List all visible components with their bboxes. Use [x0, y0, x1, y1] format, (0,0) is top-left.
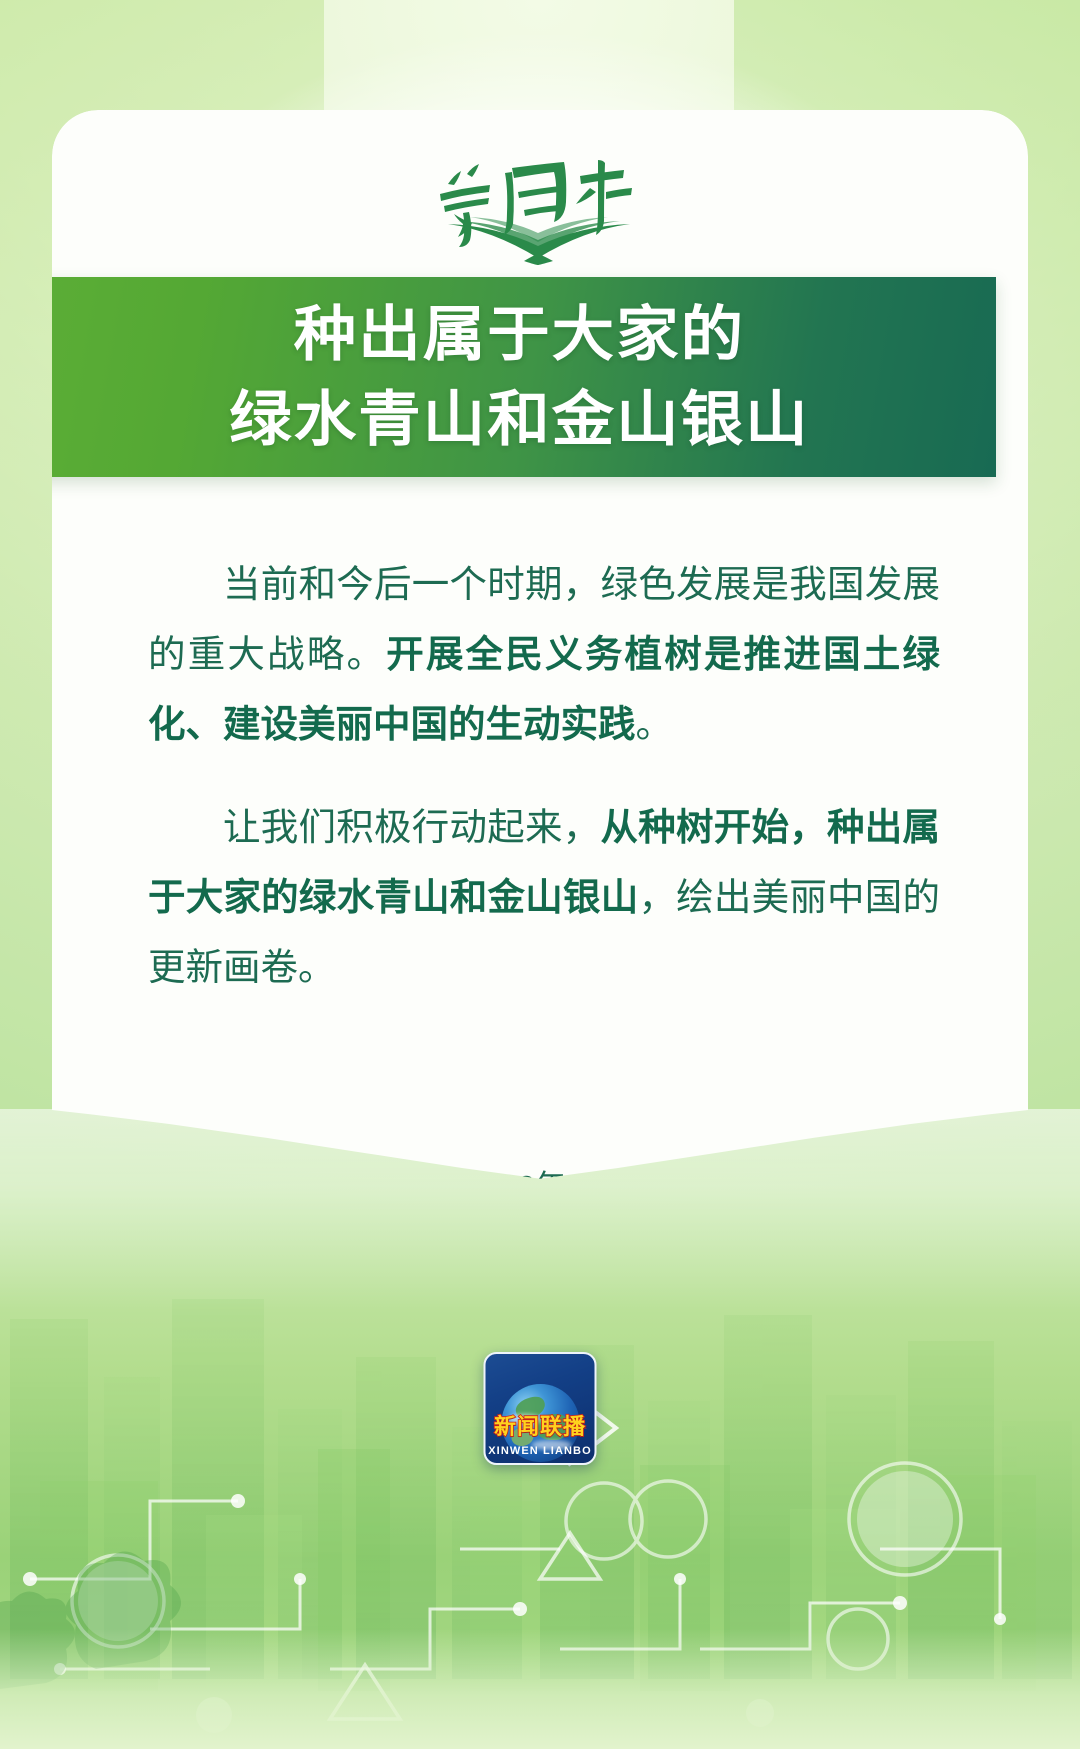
content-card: 学习卡 种出属于大家的 绿水青山和金山银山 当前和今后一个时期，绿色发展是我国发…	[52, 110, 1028, 1183]
paragraph-1: 当前和今后一个时期，绿色发展是我国发展的重大战略。开展全民义务植树是推进国土绿化…	[148, 550, 940, 759]
card-inner: 学习卡 种出属于大家的 绿水青山和金山银山 当前和今后一个时期，绿色发展是我国发…	[52, 110, 1028, 1183]
background-bottom-fade	[0, 1629, 1080, 1749]
body-copy: 当前和今后一个时期，绿色发展是我国发展的重大战略。开展全民义务植树是推进国土绿化…	[148, 550, 940, 1003]
p1-normal-2: 。	[636, 703, 674, 745]
title-line-1: 种出属于大家的	[271, 292, 745, 377]
p2-normal-1: 让我们积极行动起来，	[223, 806, 601, 848]
title-banner: 种出属于大家的 绿水青山和金山银山	[20, 277, 996, 477]
logo-en-text: XINWEN LIANBO	[486, 1445, 595, 1457]
title-line-2: 绿水青山和金山银山	[206, 377, 809, 462]
xuexika-logo-icon	[420, 148, 660, 266]
brand-logo: 学习卡	[52, 148, 1028, 266]
xinwen-lianbo-logo: 新闻联播 XINWEN LIANBO	[484, 1352, 597, 1465]
paragraph-2: 让我们积极行动起来，从种树开始，种出属于大家的绿水青山和金山银山，绘出美丽中国的…	[148, 793, 940, 1002]
logo-cn-text: 新闻联播	[486, 1409, 595, 1441]
